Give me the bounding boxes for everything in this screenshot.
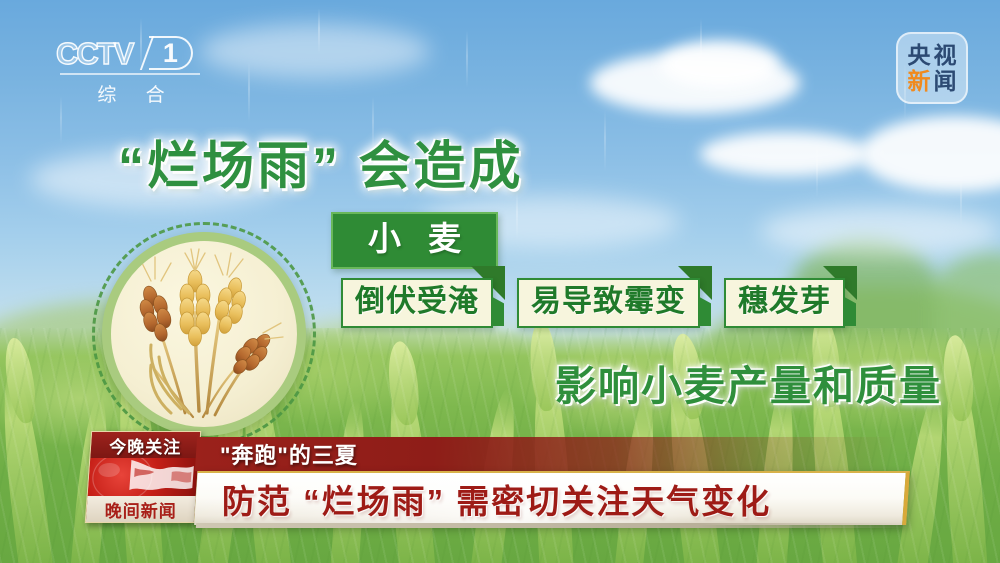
program-name-label: 晚间新闻	[86, 496, 196, 522]
tag-label: 穗发芽	[738, 285, 831, 318]
impact-tag-3: 穗发芽	[724, 278, 845, 328]
tag-label: 易导致霉变	[531, 285, 686, 318]
headline-bar: 防范 “烂场雨” 需密切关注天气变化	[194, 471, 910, 525]
cloud-8	[760, 206, 1000, 256]
tag-tail-icon	[491, 296, 504, 326]
crop-label-text: 小 麦	[359, 221, 470, 258]
cctv-logo-row: CCTV 1	[56, 36, 206, 70]
news-badge-char-xin: 新	[908, 69, 931, 93]
cctv-wordmark: CCTV	[56, 38, 132, 69]
broadcast-frame: CCTV 1 综 合 央 视 新 闻 “烂场雨” 会造成	[0, 0, 1000, 563]
graphic-headline: “烂场雨” 会造成	[118, 124, 523, 199]
rain-streak	[318, 8, 320, 54]
news-badge-char-wen: 闻	[934, 69, 957, 93]
tag-tail-icon	[698, 296, 711, 326]
lower-third: 今晚关注 晚间新闻 "奔跑"的三夏 防范 “烂场雨” 需密切关注天气变化	[0, 423, 1000, 563]
cctv-channel-logo: CCTV 1 综 合	[56, 36, 206, 107]
cloud-2	[660, 40, 780, 88]
globe-icon	[88, 458, 199, 496]
headline-bar-base	[196, 523, 912, 528]
news-badge-row-1: 央 视	[908, 43, 957, 67]
impact-tag-1: 倒伏受淹	[341, 278, 493, 328]
cloud-5	[200, 24, 430, 78]
program-bottom-text: 晚间新闻	[105, 497, 177, 522]
kicker-text: "奔跑"的三夏	[196, 438, 358, 470]
impact-tag-row: 倒伏受淹 易导致霉变 穗发芽	[341, 278, 845, 328]
tag-body: 易导致霉变	[517, 278, 700, 328]
rain-streak	[604, 110, 606, 172]
cloud-3	[700, 132, 870, 176]
news-badge-row-2: 新 闻	[908, 69, 957, 93]
crop-label-box: 小 麦	[331, 212, 498, 269]
program-segment-label: 今晚关注	[90, 432, 200, 458]
wheat-svg-icon	[111, 241, 297, 427]
impact-tag-2: 易导致霉变	[517, 278, 700, 328]
program-top-text: 今晚关注	[109, 433, 181, 458]
news-badge-char-shi: 视	[934, 43, 957, 67]
circle-inner-panel	[111, 241, 297, 427]
wheat-ears-circle-illustration	[98, 228, 310, 440]
program-logo-block: 今晚关注 晚间新闻	[85, 431, 201, 523]
cctv-news-badge: 央 视 新 闻	[896, 32, 968, 104]
tag-body: 穗发芽	[724, 278, 845, 328]
rain-streak	[960, 176, 962, 226]
globe-continents-svg	[88, 458, 199, 496]
channel-name: 综 合	[56, 80, 206, 107]
rain-streak	[248, 62, 250, 122]
tag-label: 倒伏受淹	[355, 285, 479, 318]
rain-streak	[816, 140, 818, 198]
channel-number: 1	[149, 36, 193, 70]
cctv-underline	[60, 73, 200, 75]
kicker-bar: "奔跑"的三夏	[195, 437, 897, 471]
tag-body: 倒伏受淹	[341, 278, 493, 328]
lower-third-headline: 防范 “烂场雨” 需密切关注天气变化	[196, 475, 771, 523]
rain-streak	[466, 30, 468, 88]
graphic-conclusion: 影响小麦产量和质量	[555, 352, 942, 412]
rain-streak	[700, 18, 702, 72]
news-badge-char-yang: 央	[908, 43, 931, 67]
